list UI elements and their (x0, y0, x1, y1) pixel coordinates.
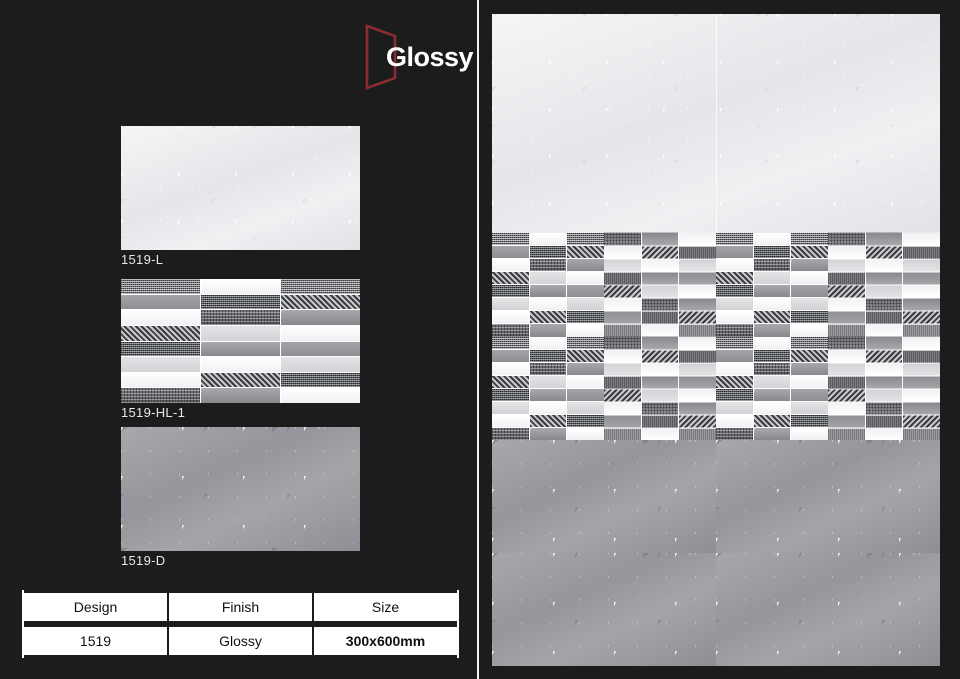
mosaic-strip (530, 415, 567, 427)
mosaic-strip (604, 350, 641, 362)
mosaic-strip (903, 272, 940, 284)
mosaic-strip (679, 233, 716, 245)
highlight-mosaic-texture (828, 337, 940, 441)
mosaic-strip (492, 350, 529, 362)
mosaic-strip (567, 428, 604, 440)
mosaic-column-1 (121, 279, 200, 403)
mosaic-strip (642, 363, 679, 375)
mosaic-strip (679, 428, 716, 440)
mosaic-strip (679, 402, 716, 414)
mosaic-strip (866, 233, 903, 245)
mosaic-strip (604, 389, 641, 401)
mosaic-column-3 (567, 233, 604, 337)
mosaic-column-1 (828, 337, 865, 441)
render-dark-texture (492, 440, 716, 553)
mosaic-strip (567, 246, 604, 258)
mosaic-strip (567, 298, 604, 310)
mosaic-strip (201, 342, 280, 357)
mosaic-strip (281, 357, 360, 372)
render-mosaic-tile-unit (604, 233, 716, 337)
mosaic-strip (642, 259, 679, 271)
mosaic-strip (604, 324, 641, 336)
mosaic-strip (791, 298, 828, 310)
highlight-mosaic-texture (492, 233, 604, 337)
mosaic-strip (121, 342, 200, 357)
mosaic-column-1 (492, 233, 529, 337)
mosaic-strip (567, 389, 604, 401)
mosaic-strip (866, 272, 903, 284)
swatch-light-marble-tile[interactable] (121, 126, 360, 250)
mosaic-strip (716, 428, 753, 440)
mosaic-strip (604, 428, 641, 440)
mosaic-strip (828, 246, 865, 258)
mosaic-strip (492, 415, 529, 427)
mosaic-strip (754, 363, 791, 375)
mosaic-strip (604, 233, 641, 245)
render-dark-texture (716, 553, 940, 666)
mosaic-strip (530, 402, 567, 414)
render-dark-texture (492, 553, 716, 666)
render-mosaic-tile-unit (828, 233, 940, 337)
highlight-mosaic-texture (716, 233, 828, 337)
mosaic-strip (567, 233, 604, 245)
mosaic-strip (679, 246, 716, 258)
mosaic-strip (791, 415, 828, 427)
mosaic-strip (281, 295, 360, 310)
mosaic-strip (492, 376, 529, 388)
table-right-rule (457, 590, 459, 658)
mosaic-strip (866, 389, 903, 401)
mosaic-strip (530, 285, 567, 297)
swatch-dark-marble-tile[interactable] (121, 427, 360, 551)
mosaic-strip (716, 363, 753, 375)
table-header-finish: Finish (167, 593, 312, 621)
mosaic-strip (716, 259, 753, 271)
mosaic-strip (903, 285, 940, 297)
mosaic-strip (642, 285, 679, 297)
mosaic-column-1 (716, 337, 753, 441)
brand-logo: Glossy (365, 24, 470, 90)
mosaic-column-3 (567, 337, 604, 441)
highlight-mosaic-texture (604, 337, 716, 441)
mosaic-strip (754, 246, 791, 258)
mosaic-strip (679, 298, 716, 310)
mosaic-strip (903, 324, 940, 336)
mosaic-column-1 (604, 233, 641, 337)
mosaic-strip (679, 350, 716, 362)
mosaic-strip (866, 324, 903, 336)
mosaic-strip (828, 428, 865, 440)
highlight-mosaic-texture (828, 233, 940, 337)
mosaic-strip (567, 259, 604, 271)
mosaic-strip (716, 324, 753, 336)
mosaic-strip (866, 350, 903, 362)
mosaic-strip (642, 311, 679, 323)
mosaic-strip (754, 415, 791, 427)
mosaic-strip (828, 311, 865, 323)
mosaic-strip (866, 415, 903, 427)
mosaic-strip (754, 389, 791, 401)
mosaic-strip (828, 272, 865, 284)
highlight-mosaic-texture (604, 233, 716, 337)
mosaic-strip (754, 259, 791, 271)
left-panel: Glossy 1519-L 1519-HL-1 1519-D Design Fi… (0, 0, 478, 679)
mosaic-column-3 (903, 233, 940, 337)
mosaic-column-2 (642, 337, 679, 441)
mosaic-strip (754, 311, 791, 323)
table-cell-finish: Glossy (167, 627, 312, 655)
mosaic-strip (492, 402, 529, 414)
mosaic-strip (281, 388, 360, 403)
mosaic-strip (679, 272, 716, 284)
mosaic-strip (492, 246, 529, 258)
mosaic-strip (828, 363, 865, 375)
mosaic-strip (492, 285, 529, 297)
mosaic-strip (716, 402, 753, 414)
mosaic-column-2 (642, 233, 679, 337)
mosaic-strip (866, 363, 903, 375)
mosaic-column-3 (679, 337, 716, 441)
mosaic-column-2 (754, 337, 791, 441)
mosaic-strip (642, 337, 679, 349)
mosaic-strip (903, 311, 940, 323)
mosaic-strip (866, 246, 903, 258)
mosaic-strip (530, 350, 567, 362)
mosaic-strip (679, 389, 716, 401)
mosaic-strip (679, 363, 716, 375)
panel-divider (477, 0, 479, 679)
mosaic-strip (716, 272, 753, 284)
mosaic-strip (604, 285, 641, 297)
mosaic-strip (716, 298, 753, 310)
catalog-page: Glossy 1519-L 1519-HL-1 1519-D Design Fi… (0, 0, 960, 679)
mosaic-strip (679, 337, 716, 349)
mosaic-strip (679, 415, 716, 427)
mosaic-strip (903, 298, 940, 310)
mosaic-strip (828, 298, 865, 310)
mosaic-strip (604, 259, 641, 271)
mosaic-strip (754, 376, 791, 388)
mosaic-strip (492, 272, 529, 284)
mosaic-strip (567, 285, 604, 297)
mosaic-strip (201, 279, 280, 294)
mosaic-strip (567, 376, 604, 388)
mosaic-strip (567, 363, 604, 375)
render-mosaic-tile-unit (716, 337, 828, 441)
mosaic-strip (716, 337, 753, 349)
mosaic-strip (281, 373, 360, 388)
mosaic-strip (530, 337, 567, 349)
mosaic-strip (567, 272, 604, 284)
mosaic-strip (530, 363, 567, 375)
mosaic-strip (530, 311, 567, 323)
mosaic-strip (903, 428, 940, 440)
render-grout-seam (716, 14, 717, 233)
mosaic-strip (604, 415, 641, 427)
mosaic-strip (903, 350, 940, 362)
mosaic-strip (903, 376, 940, 388)
mosaic-strip (201, 373, 280, 388)
mosaic-column-1 (716, 233, 753, 337)
mosaic-strip (716, 415, 753, 427)
mosaic-strip (567, 402, 604, 414)
mosaic-strip (121, 279, 200, 294)
mosaic-strip (716, 350, 753, 362)
mosaic-strip (828, 415, 865, 427)
light-marble-texture (121, 126, 360, 250)
mosaic-strip (791, 272, 828, 284)
render-mosaic-tile-unit (492, 337, 604, 441)
mosaic-strip (642, 324, 679, 336)
mosaic-strip (903, 389, 940, 401)
mosaic-strip (530, 389, 567, 401)
mosaic-strip (791, 324, 828, 336)
mosaic-strip (716, 285, 753, 297)
render-dark-tile-unit (492, 440, 716, 553)
mosaic-strip (492, 324, 529, 336)
table-cell-design: 1519 (24, 627, 167, 655)
mosaic-strip (642, 272, 679, 284)
mosaic-strip (716, 376, 753, 388)
mosaic-strip (754, 233, 791, 245)
mosaic-strip (201, 388, 280, 403)
mosaic-strip (866, 337, 903, 349)
mosaic-strip (791, 337, 828, 349)
dark-marble-texture (121, 427, 360, 551)
mosaic-strip (492, 428, 529, 440)
mosaic-strip (754, 428, 791, 440)
mosaic-strip (828, 285, 865, 297)
mosaic-strip (903, 233, 940, 245)
mosaic-strip (903, 246, 940, 258)
mosaic-column-3 (281, 279, 360, 403)
mosaic-strip (791, 311, 828, 323)
render-light-tile-section (492, 14, 940, 233)
mosaic-strip (642, 350, 679, 362)
mosaic-strip (121, 357, 200, 372)
mosaic-strip (754, 285, 791, 297)
mosaic-strip (903, 402, 940, 414)
swatch-label-highlight: 1519-HL-1 (121, 405, 185, 420)
mosaic-strip (530, 272, 567, 284)
mosaic-strip (754, 350, 791, 362)
mosaic-strip (679, 259, 716, 271)
mosaic-strip (530, 324, 567, 336)
mosaic-strip (642, 376, 679, 388)
mosaic-strip (679, 324, 716, 336)
render-mosaic-tile-unit (828, 337, 940, 441)
mosaic-column-2 (201, 279, 280, 403)
mosaic-strip (903, 259, 940, 271)
mosaic-strip (866, 402, 903, 414)
installation-render-panel (492, 14, 940, 666)
mosaic-strip (828, 402, 865, 414)
mosaic-strip (121, 326, 200, 341)
mosaic-strip (679, 311, 716, 323)
mosaic-strip (604, 363, 641, 375)
mosaic-strip (679, 285, 716, 297)
mosaic-strip (716, 233, 753, 245)
mosaic-strip (642, 402, 679, 414)
mosaic-strip (567, 324, 604, 336)
mosaic-column-2 (866, 233, 903, 337)
mosaic-strip (121, 388, 200, 403)
mosaic-strip (201, 357, 280, 372)
mosaic-strip (567, 415, 604, 427)
mosaic-strip (201, 310, 280, 325)
mosaic-strip (791, 350, 828, 362)
mosaic-strip (642, 298, 679, 310)
mosaic-strip (201, 326, 280, 341)
mosaic-strip (604, 311, 641, 323)
mosaic-strip (791, 428, 828, 440)
mosaic-strip (716, 246, 753, 258)
mosaic-strip (281, 279, 360, 294)
mosaic-strip (828, 324, 865, 336)
mosaic-strip (121, 373, 200, 388)
render-mosaic-tile-unit (492, 233, 604, 337)
mosaic-strip (281, 326, 360, 341)
mosaic-strip (492, 311, 529, 323)
mosaic-strip (828, 350, 865, 362)
mosaic-strip (679, 376, 716, 388)
render-dark-tile-unit (716, 553, 940, 666)
mosaic-strip (567, 337, 604, 349)
mosaic-column-1 (828, 233, 865, 337)
mosaic-strip (604, 272, 641, 284)
mosaic-column-1 (492, 337, 529, 441)
render-mosaic-tile-unit (716, 233, 828, 337)
mosaic-strip (492, 298, 529, 310)
mosaic-strip (530, 259, 567, 271)
table-row: 1519 Glossy 300x600mm (24, 627, 457, 655)
mosaic-strip (492, 389, 529, 401)
mosaic-strip (791, 402, 828, 414)
mosaic-column-3 (679, 233, 716, 337)
mosaic-strip (492, 233, 529, 245)
mosaic-column-2 (530, 337, 567, 441)
mosaic-strip (530, 233, 567, 245)
mosaic-strip (754, 324, 791, 336)
mosaic-strip (530, 376, 567, 388)
mosaic-strip (866, 428, 903, 440)
mosaic-strip (716, 311, 753, 323)
mosaic-strip (791, 376, 828, 388)
mosaic-strip (791, 389, 828, 401)
table-header-size: Size (312, 593, 457, 621)
mosaic-column-3 (791, 233, 828, 337)
mosaic-strip (121, 310, 200, 325)
mosaic-strip (866, 376, 903, 388)
mosaic-column-3 (903, 337, 940, 441)
mosaic-strip (604, 376, 641, 388)
mosaic-column-3 (791, 337, 828, 441)
render-dark-tile-section (492, 440, 940, 666)
mosaic-strip (642, 246, 679, 258)
mosaic-strip (281, 310, 360, 325)
mosaic-strip (201, 295, 280, 310)
mosaic-column-1 (604, 337, 641, 441)
render-mosaic-tile-unit (604, 337, 716, 441)
mosaic-strip (903, 415, 940, 427)
highlight-mosaic-texture (716, 337, 828, 441)
mosaic-strip (791, 233, 828, 245)
mosaic-strip (903, 337, 940, 349)
mosaic-strip (530, 428, 567, 440)
mosaic-strip (828, 337, 865, 349)
table-header-design: Design (24, 593, 167, 621)
mosaic-strip (604, 298, 641, 310)
mosaic-strip (754, 298, 791, 310)
mosaic-strip (866, 285, 903, 297)
mosaic-strip (604, 246, 641, 258)
mosaic-strip (567, 311, 604, 323)
mosaic-strip (530, 246, 567, 258)
swatch-highlight-mosaic-tile[interactable] (121, 279, 360, 403)
mosaic-strip (828, 376, 865, 388)
mosaic-strip (866, 298, 903, 310)
table-cell-size: 300x600mm (312, 627, 457, 655)
mosaic-strip (492, 363, 529, 375)
highlight-mosaic-texture (121, 279, 360, 403)
mosaic-strip (604, 337, 641, 349)
mosaic-column-2 (866, 337, 903, 441)
mosaic-strip (866, 311, 903, 323)
mosaic-strip (791, 246, 828, 258)
mosaic-strip (828, 259, 865, 271)
brand-name: Glossy (386, 41, 473, 73)
mosaic-column-2 (754, 233, 791, 337)
render-dark-texture (716, 440, 940, 553)
mosaic-strip (828, 389, 865, 401)
mosaic-strip (754, 402, 791, 414)
table-header-row: Design Finish Size (24, 593, 457, 621)
swatch-label-dark: 1519-D (121, 553, 165, 568)
mosaic-strip (642, 233, 679, 245)
mosaic-strip (492, 259, 529, 271)
mosaic-strip (791, 259, 828, 271)
render-highlight-band (492, 233, 940, 440)
mosaic-strip (642, 415, 679, 427)
mosaic-strip (567, 350, 604, 362)
mosaic-strip (530, 298, 567, 310)
swatch-label-light: 1519-L (121, 252, 163, 267)
mosaic-strip (866, 259, 903, 271)
mosaic-strip (754, 337, 791, 349)
mosaic-strip (492, 337, 529, 349)
mosaic-strip (791, 285, 828, 297)
specification-table: Design Finish Size 1519 Glossy 300x600mm (22, 590, 459, 658)
mosaic-strip (903, 363, 940, 375)
mosaic-strip (642, 389, 679, 401)
mosaic-strip (604, 402, 641, 414)
highlight-mosaic-texture (492, 337, 604, 441)
mosaic-strip (716, 389, 753, 401)
render-dark-tile-unit (492, 553, 716, 666)
mosaic-strip (791, 363, 828, 375)
mosaic-column-2 (530, 233, 567, 337)
mosaic-strip (121, 295, 200, 310)
mosaic-strip (828, 233, 865, 245)
render-dark-tile-unit (716, 440, 940, 553)
mosaic-strip (642, 428, 679, 440)
mosaic-strip (754, 272, 791, 284)
mosaic-strip (281, 342, 360, 357)
